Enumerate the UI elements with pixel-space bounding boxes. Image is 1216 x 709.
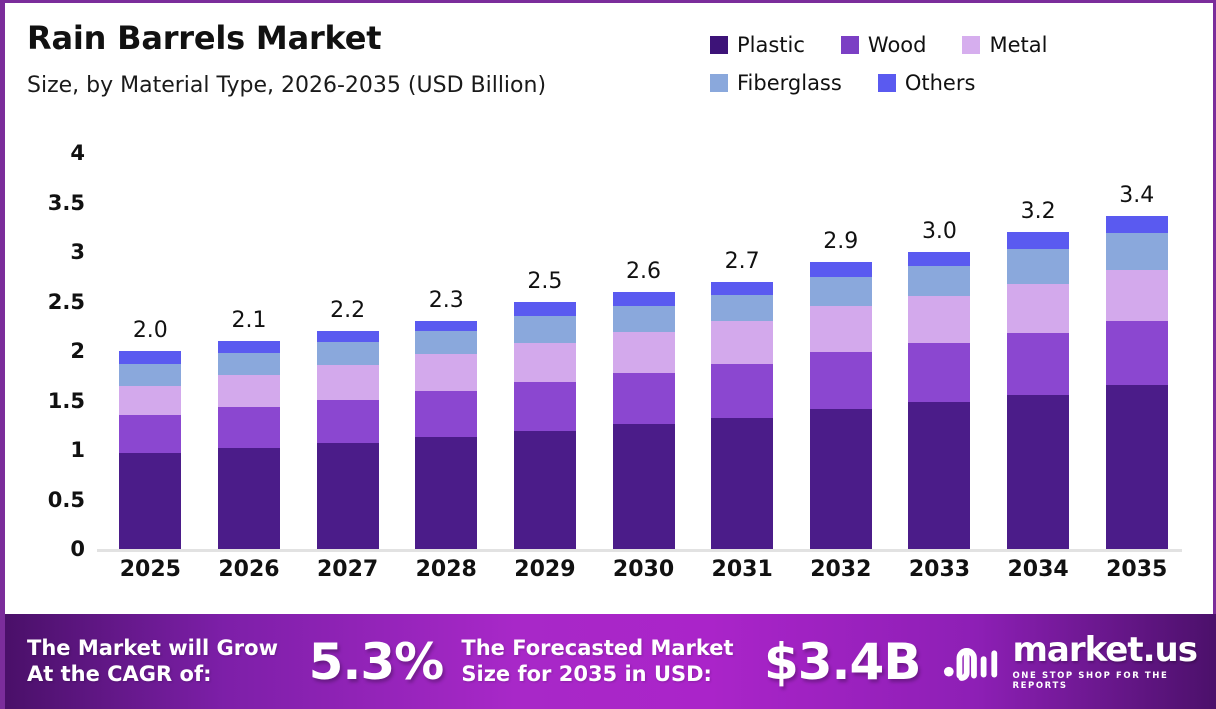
brand-logo: market.us ONE STOP SHOP FOR THE REPORTS xyxy=(943,633,1216,691)
legend-label: Wood xyxy=(868,33,927,57)
bar-segment-fiberglass[interactable] xyxy=(711,295,773,322)
x-axis-label: 2028 xyxy=(397,557,496,597)
bar-value-label: 3.2 xyxy=(989,199,1088,224)
legend-swatch-icon xyxy=(962,36,980,54)
x-axis-label: 2027 xyxy=(298,557,397,597)
legend-label: Fiberglass xyxy=(737,71,842,95)
bar-segment-others[interactable] xyxy=(415,321,477,331)
legend-item-wood[interactable]: Wood xyxy=(841,33,927,57)
bar-value-label: 2.7 xyxy=(693,249,792,274)
cagr-label-line1: The Market will Grow xyxy=(27,636,288,662)
bar-segment-metal[interactable] xyxy=(810,306,872,352)
bar-segment-others[interactable] xyxy=(1106,216,1168,233)
x-axis-label: 2033 xyxy=(890,557,989,597)
bar-segment-others[interactable] xyxy=(711,282,773,295)
bar-segment-metal[interactable] xyxy=(218,375,280,408)
legend-label: Plastic xyxy=(737,33,805,57)
bar-segment-wood[interactable] xyxy=(1007,333,1069,394)
bar-value-label: 2.0 xyxy=(101,318,200,343)
stacked-bar[interactable] xyxy=(810,262,872,549)
bar-column[interactable]: 3.0 xyxy=(890,153,989,549)
x-axis-label: 2034 xyxy=(989,557,1088,597)
bar-segment-wood[interactable] xyxy=(1106,321,1168,384)
plot-area: 00.511.522.533.54 2.02.12.22.32.52.62.72… xyxy=(5,153,1216,608)
bar-segment-others[interactable] xyxy=(1007,232,1069,249)
stacked-bar[interactable] xyxy=(613,292,675,549)
bar-value-label: 2.5 xyxy=(496,269,595,294)
brand-name: market.us xyxy=(1012,633,1216,667)
bar-segment-fiberglass[interactable] xyxy=(119,364,181,386)
size-label-line2: Size for 2035 in USD: xyxy=(461,662,752,688)
y-axis-tick: 4 xyxy=(70,141,85,165)
bar-segment-others[interactable] xyxy=(908,252,970,266)
bar-value-label: 2.2 xyxy=(298,298,397,323)
legend-swatch-icon xyxy=(710,74,728,92)
bar-segment-wood[interactable] xyxy=(119,415,181,453)
bar-segment-fiberglass[interactable] xyxy=(317,342,379,365)
bar-column[interactable]: 3.2 xyxy=(989,153,1088,549)
bar-segment-plastic[interactable] xyxy=(711,418,773,549)
bar-value-label: 3.4 xyxy=(1087,183,1186,208)
page-title: Rain Barrels Market xyxy=(27,19,381,57)
bar-segment-fiberglass[interactable] xyxy=(613,306,675,333)
bar-segment-metal[interactable] xyxy=(317,365,379,400)
legend-label: Metal xyxy=(989,33,1047,57)
legend-item-metal[interactable]: Metal xyxy=(962,33,1047,57)
bar-segment-fiberglass[interactable] xyxy=(810,277,872,307)
x-axis-label: 2026 xyxy=(200,557,299,597)
x-axis-labels: 2025202620272028202920302031203220332034… xyxy=(101,557,1186,597)
bar-segment-plastic[interactable] xyxy=(415,437,477,549)
stacked-bar[interactable] xyxy=(908,252,970,549)
x-axis-line xyxy=(97,549,1182,552)
bar-column[interactable]: 2.7 xyxy=(693,153,792,549)
bar-segment-fiberglass[interactable] xyxy=(514,316,576,343)
bar-segment-metal[interactable] xyxy=(613,332,675,373)
bar-segment-others[interactable] xyxy=(119,351,181,364)
legend-row: PlasticWoodMetal xyxy=(710,33,1210,57)
stacked-bar[interactable] xyxy=(218,341,280,549)
bar-segment-metal[interactable] xyxy=(711,321,773,364)
chart-page: Rain Barrels Market Size, by Material Ty… xyxy=(0,0,1216,709)
bar-segment-metal[interactable] xyxy=(1106,270,1168,321)
brand-text: market.us ONE STOP SHOP FOR THE REPORTS xyxy=(1012,633,1216,691)
bar-segment-others[interactable] xyxy=(613,292,675,306)
bar-segment-plastic[interactable] xyxy=(1007,395,1069,549)
legend-item-others[interactable]: Others xyxy=(878,71,976,95)
cagr-value: 5.3% xyxy=(298,633,453,691)
bar-segment-metal[interactable] xyxy=(1007,284,1069,334)
bar-segment-plastic[interactable] xyxy=(218,448,280,549)
bar-segment-wood[interactable] xyxy=(415,391,477,438)
bar-segment-plastic[interactable] xyxy=(119,453,181,549)
stacked-bar[interactable] xyxy=(1106,216,1168,549)
x-axis-label: 2031 xyxy=(693,557,792,597)
stacked-bar[interactable] xyxy=(514,302,576,550)
bar-segment-wood[interactable] xyxy=(514,382,576,432)
bar-segment-plastic[interactable] xyxy=(613,424,675,549)
x-axis-label: 2032 xyxy=(791,557,890,597)
bar-value-label: 2.1 xyxy=(200,308,299,333)
legend-swatch-icon xyxy=(841,36,859,54)
stacked-bar[interactable] xyxy=(119,351,181,549)
bar-segment-fiberglass[interactable] xyxy=(218,353,280,375)
legend-item-fiberglass[interactable]: Fiberglass xyxy=(710,71,842,95)
bar-segment-plastic[interactable] xyxy=(908,402,970,549)
cagr-label-line2: At the CAGR of: xyxy=(27,662,288,688)
chart-header: Rain Barrels Market Size, by Material Ty… xyxy=(5,3,705,123)
bar-segment-wood[interactable] xyxy=(613,373,675,424)
bar-segment-plastic[interactable] xyxy=(810,409,872,549)
stacked-bar[interactable] xyxy=(317,331,379,549)
bar-value-label: 3.0 xyxy=(890,219,989,244)
y-axis: 00.511.522.533.54 xyxy=(5,153,97,518)
bar-segment-metal[interactable] xyxy=(514,343,576,382)
stacked-bar[interactable] xyxy=(1007,232,1069,549)
stacked-bar[interactable] xyxy=(711,282,773,549)
y-axis-tick: 3.5 xyxy=(48,191,85,215)
y-axis-tick: 2.5 xyxy=(48,290,85,314)
bar-value-label: 2.9 xyxy=(791,229,890,254)
bar-column[interactable]: 2.9 xyxy=(791,153,890,549)
y-axis-tick: 2 xyxy=(70,339,85,363)
legend-item-plastic[interactable]: Plastic xyxy=(710,33,805,57)
bar-segment-others[interactable] xyxy=(810,262,872,277)
bar-segment-fiberglass[interactable] xyxy=(908,266,970,296)
y-axis-tick: 1 xyxy=(70,438,85,462)
bar-segment-metal[interactable] xyxy=(908,296,970,344)
bar-column[interactable]: 2.1 xyxy=(200,153,299,549)
bar-segment-wood[interactable] xyxy=(810,352,872,409)
bar-value-label: 2.3 xyxy=(397,288,496,313)
bar-column[interactable]: 2.5 xyxy=(496,153,595,549)
bar-group: 2.02.12.22.32.52.62.72.93.03.23.4 xyxy=(101,153,1186,549)
bar-segment-wood[interactable] xyxy=(908,343,970,402)
x-axis-label: 2030 xyxy=(594,557,693,597)
legend-label: Others xyxy=(905,71,976,95)
bar-segment-plastic[interactable] xyxy=(514,431,576,549)
bar-segment-plastic[interactable] xyxy=(1106,385,1168,549)
bar-segment-wood[interactable] xyxy=(317,400,379,444)
legend-swatch-icon xyxy=(710,36,728,54)
y-axis-tick: 0.5 xyxy=(48,488,85,512)
y-axis-tick: 3 xyxy=(70,240,85,264)
bar-segment-wood[interactable] xyxy=(711,364,773,418)
bar-column[interactable]: 3.4 xyxy=(1087,153,1186,549)
bar-value-label: 2.6 xyxy=(594,259,693,284)
bar-segment-metal[interactable] xyxy=(119,386,181,416)
x-axis-label: 2025 xyxy=(101,557,200,597)
bar-segment-others[interactable] xyxy=(317,331,379,342)
stacked-bar[interactable] xyxy=(415,321,477,549)
market-us-logo-icon xyxy=(943,642,1003,682)
legend-swatch-icon xyxy=(878,74,896,92)
y-axis-tick: 0 xyxy=(70,537,85,561)
legend-row: FiberglassOthers xyxy=(710,71,1210,95)
bar-column[interactable]: 2.6 xyxy=(594,153,693,549)
bar-column[interactable]: 2.3 xyxy=(397,153,496,549)
bar-segment-others[interactable] xyxy=(514,302,576,317)
page-subtitle: Size, by Material Type, 2026-2035 (USD B… xyxy=(27,73,546,98)
bar-segment-fiberglass[interactable] xyxy=(415,331,477,354)
brand-tagline: ONE STOP SHOP FOR THE REPORTS xyxy=(1012,671,1216,691)
forecast-size-value: $3.4B xyxy=(760,633,925,691)
footer-banner: The Market will Grow At the CAGR of: 5.3… xyxy=(5,614,1216,709)
bar-column[interactable]: 2.2 xyxy=(298,153,397,549)
bar-segment-metal[interactable] xyxy=(415,354,477,391)
bar-segment-fiberglass[interactable] xyxy=(1106,233,1168,270)
bar-segment-plastic[interactable] xyxy=(317,443,379,549)
bar-segment-fiberglass[interactable] xyxy=(1007,249,1069,284)
bar-segment-others[interactable] xyxy=(218,341,280,353)
cagr-label: The Market will Grow At the CAGR of: xyxy=(27,636,288,687)
bar-segment-wood[interactable] xyxy=(218,407,280,448)
bar-column[interactable]: 2.0 xyxy=(101,153,200,549)
chart-legend: PlasticWoodMetalFiberglassOthers xyxy=(710,33,1210,109)
x-axis-label: 2035 xyxy=(1087,557,1186,597)
x-axis-label: 2029 xyxy=(496,557,595,597)
size-label-line1: The Forecasted Market xyxy=(461,636,752,662)
forecast-size-label: The Forecasted Market Size for 2035 in U… xyxy=(461,636,752,687)
y-axis-tick: 1.5 xyxy=(48,389,85,413)
